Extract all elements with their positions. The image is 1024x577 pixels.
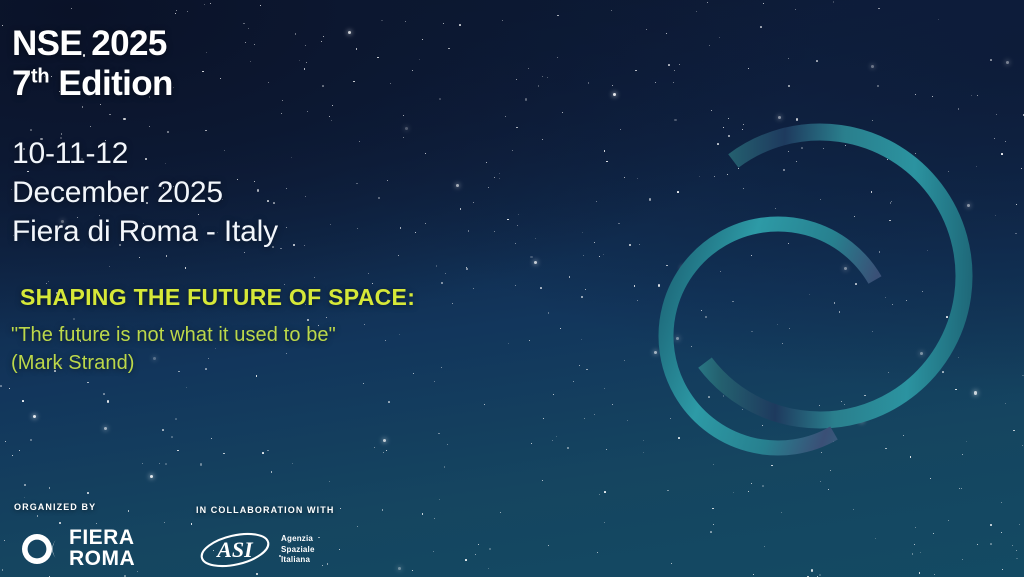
star — [701, 310, 702, 311]
star — [700, 254, 701, 255]
star — [1022, 445, 1023, 446]
star — [946, 348, 948, 350]
star — [775, 208, 777, 210]
star — [751, 255, 752, 256]
star — [679, 64, 680, 65]
star — [1015, 233, 1017, 235]
star — [649, 198, 651, 200]
star — [659, 329, 660, 330]
star — [887, 159, 889, 161]
star — [788, 151, 789, 152]
star — [820, 481, 821, 482]
star — [763, 3, 764, 4]
star — [1001, 153, 1003, 155]
star — [990, 543, 992, 545]
fiera-roma-logo: FIERA ROMA — [14, 528, 135, 569]
star — [958, 357, 959, 358]
star — [635, 70, 637, 72]
star — [1021, 168, 1022, 169]
star — [890, 202, 892, 204]
asi-logo: ASI Agenzia Spaziale Italiana — [196, 531, 334, 569]
asi-mark-letters: ASI — [215, 537, 254, 562]
star — [728, 135, 730, 137]
star — [821, 452, 822, 453]
star — [948, 171, 949, 172]
star — [743, 188, 744, 189]
star — [762, 485, 764, 487]
star — [948, 520, 949, 521]
star — [930, 478, 931, 479]
star — [742, 129, 743, 130]
star — [958, 108, 960, 110]
star — [670, 418, 672, 420]
star — [2, 25, 3, 26]
star — [788, 243, 789, 244]
star — [723, 395, 725, 397]
poster-footer: ORGANIZED BY FIERA ROMA IN COLLABORATION… — [0, 467, 520, 577]
star — [789, 328, 790, 329]
star — [971, 95, 972, 96]
star — [691, 346, 692, 347]
star — [760, 26, 762, 28]
star — [961, 488, 962, 489]
star — [1002, 569, 1003, 570]
star — [819, 405, 820, 406]
star — [732, 301, 734, 303]
star — [671, 563, 672, 564]
star — [705, 316, 707, 318]
star — [751, 331, 753, 333]
fiera-roma-wordmark-line2: ROMA — [69, 549, 135, 569]
star — [742, 409, 744, 411]
star — [955, 389, 957, 391]
star — [834, 302, 836, 304]
star — [658, 284, 660, 286]
star — [711, 110, 712, 111]
star — [637, 178, 639, 180]
star — [819, 574, 821, 576]
star — [942, 371, 944, 373]
event-days: 10-11-12 — [12, 134, 278, 173]
star — [720, 271, 721, 272]
star — [990, 524, 992, 526]
star — [654, 351, 657, 354]
star — [1013, 430, 1015, 432]
star — [714, 176, 715, 177]
star — [713, 464, 714, 465]
star — [673, 82, 674, 83]
star — [668, 64, 670, 66]
edition-word: Edition — [58, 64, 172, 103]
star — [830, 470, 831, 471]
star — [906, 300, 907, 301]
asi-mark-icon: ASI — [196, 531, 274, 569]
star — [934, 574, 935, 575]
star — [864, 395, 866, 397]
star — [781, 512, 782, 513]
star — [753, 574, 755, 576]
star — [727, 174, 728, 175]
asi-wordmark-line2: Spaziale — [281, 545, 315, 556]
star — [733, 492, 734, 493]
asi-wordmark-line3: Italiana — [281, 555, 315, 566]
star — [860, 419, 863, 422]
asi-wordmark-line1: Agenzia — [281, 534, 315, 545]
star — [889, 220, 891, 222]
star — [696, 11, 697, 12]
star — [788, 58, 789, 59]
star — [823, 148, 824, 149]
star — [920, 552, 921, 553]
star — [764, 546, 765, 547]
star — [801, 147, 803, 149]
star — [910, 456, 912, 458]
star — [888, 372, 889, 373]
event-poster: NSE 2025 7th Edition 10-11-12 December 2… — [0, 0, 1024, 577]
star — [932, 199, 933, 200]
star — [948, 222, 950, 224]
star — [995, 215, 996, 216]
theme-quote: "The future is not what it used to be" — [11, 322, 336, 350]
star — [841, 401, 842, 402]
star — [1012, 545, 1013, 546]
star — [813, 136, 815, 138]
star — [5, 441, 7, 443]
star — [667, 490, 669, 492]
star — [855, 283, 857, 285]
star — [751, 483, 752, 484]
theme-heading: SHAPING THE FUTURE OF SPACE: — [20, 284, 415, 311]
star — [854, 216, 855, 217]
star — [816, 60, 818, 62]
star — [777, 324, 778, 325]
star — [962, 559, 963, 560]
star — [771, 465, 773, 467]
star — [885, 297, 886, 298]
star — [666, 265, 668, 267]
star — [1016, 550, 1017, 551]
star — [912, 553, 914, 555]
star — [927, 250, 928, 251]
star — [762, 425, 763, 426]
event-edition-line: 7th Edition — [12, 64, 173, 104]
star — [811, 569, 813, 571]
star — [710, 531, 712, 533]
star — [915, 94, 916, 95]
fiera-roma-wordmark: FIERA ROMA — [69, 528, 135, 569]
event-title-line1: NSE 2025 — [12, 24, 173, 64]
star — [639, 244, 641, 246]
star — [833, 441, 834, 442]
star — [906, 386, 908, 388]
star — [717, 143, 719, 145]
star — [967, 204, 970, 207]
star — [1001, 532, 1002, 533]
star — [677, 191, 679, 193]
star — [966, 441, 967, 442]
star — [885, 448, 887, 450]
star — [719, 37, 721, 39]
star — [788, 85, 790, 87]
star — [977, 544, 978, 545]
inner-ring — [625, 183, 931, 489]
star — [974, 391, 977, 394]
star — [1016, 204, 1017, 205]
asi-wordmark: Agenzia Spaziale Italiana — [281, 534, 315, 566]
star — [1005, 403, 1006, 404]
star — [833, 1, 835, 3]
organized-by-label: ORGANIZED BY — [14, 502, 135, 512]
star — [783, 169, 785, 171]
star — [938, 19, 939, 20]
star — [806, 221, 808, 223]
star — [877, 85, 879, 87]
star — [646, 29, 647, 30]
star — [962, 454, 964, 456]
star — [878, 8, 880, 10]
star — [637, 300, 638, 301]
star — [666, 33, 667, 34]
star — [707, 2, 708, 3]
star — [708, 396, 710, 398]
fiera-roma-mark-icon — [14, 532, 60, 566]
star — [933, 533, 934, 534]
star — [948, 226, 949, 227]
collaboration-label: IN COLLABORATION WITH — [196, 505, 334, 515]
star — [853, 509, 855, 511]
star — [844, 404, 845, 405]
star — [678, 437, 680, 439]
star — [907, 384, 909, 386]
star — [879, 251, 881, 253]
star — [674, 119, 676, 121]
star — [796, 161, 797, 162]
star — [915, 153, 916, 154]
star — [872, 331, 874, 333]
star — [1005, 141, 1006, 142]
star — [914, 544, 915, 545]
star — [871, 191, 873, 193]
star — [920, 352, 923, 355]
star — [915, 527, 916, 528]
theme-quote-attribution: (Mark Strand) — [11, 350, 336, 378]
event-venue: Fiera di Roma - Italy — [12, 212, 278, 251]
star — [922, 291, 923, 292]
event-title: NSE 2025 7th Edition — [12, 24, 173, 103]
theme-quote-block: "The future is not what it used to be" (… — [11, 322, 336, 377]
star — [820, 199, 821, 200]
event-month-year: December 2025 — [12, 173, 278, 212]
star — [809, 294, 811, 296]
star — [959, 488, 960, 489]
star — [748, 68, 749, 69]
star — [844, 267, 847, 270]
star — [795, 9, 796, 10]
star — [778, 116, 781, 119]
star — [1019, 524, 1020, 525]
star — [655, 82, 656, 83]
star — [872, 120, 873, 121]
star — [796, 118, 798, 120]
star — [748, 491, 749, 492]
star — [839, 311, 841, 313]
star — [738, 168, 739, 169]
star — [977, 95, 978, 96]
star — [872, 418, 873, 419]
star — [903, 435, 904, 436]
star — [728, 118, 729, 119]
fiera-roma-wordmark-line1: FIERA — [69, 528, 135, 548]
star — [723, 127, 724, 128]
star — [634, 285, 636, 287]
star — [682, 267, 685, 270]
star — [782, 343, 783, 344]
star — [713, 524, 714, 525]
orbit-rings-graphic — [582, 58, 1024, 528]
star — [1001, 502, 1002, 503]
star — [845, 145, 846, 146]
star — [892, 304, 893, 305]
star — [1006, 61, 1009, 64]
star — [949, 324, 951, 326]
star — [891, 201, 892, 202]
star — [962, 263, 964, 265]
star — [875, 538, 876, 539]
star — [871, 65, 874, 68]
collaboration-block: IN COLLABORATION WITH ASI Agenzia Spazia… — [196, 505, 334, 569]
star — [699, 176, 700, 177]
event-date-venue: 10-11-12 December 2025 Fiera di Roma - I… — [12, 134, 278, 251]
star — [920, 181, 922, 183]
star — [785, 142, 786, 143]
edition-ordinal: th — [31, 65, 49, 87]
star — [643, 440, 644, 441]
star — [709, 45, 710, 46]
star — [946, 316, 948, 318]
outer-ring — [618, 74, 1021, 477]
star — [676, 337, 679, 340]
star — [976, 166, 977, 167]
star — [959, 267, 960, 268]
star — [961, 293, 962, 294]
star — [990, 59, 992, 61]
star — [959, 254, 961, 256]
star — [674, 70, 675, 71]
organized-by-block: ORGANIZED BY FIERA ROMA — [14, 502, 135, 569]
star — [919, 572, 921, 574]
star — [643, 452, 644, 453]
star — [0, 385, 2, 387]
star — [712, 508, 714, 510]
star — [743, 124, 744, 125]
star — [996, 114, 997, 115]
star — [1016, 558, 1018, 560]
star — [932, 96, 933, 97]
edition-number: 7 — [12, 64, 31, 103]
star — [994, 138, 996, 140]
star — [828, 489, 829, 490]
